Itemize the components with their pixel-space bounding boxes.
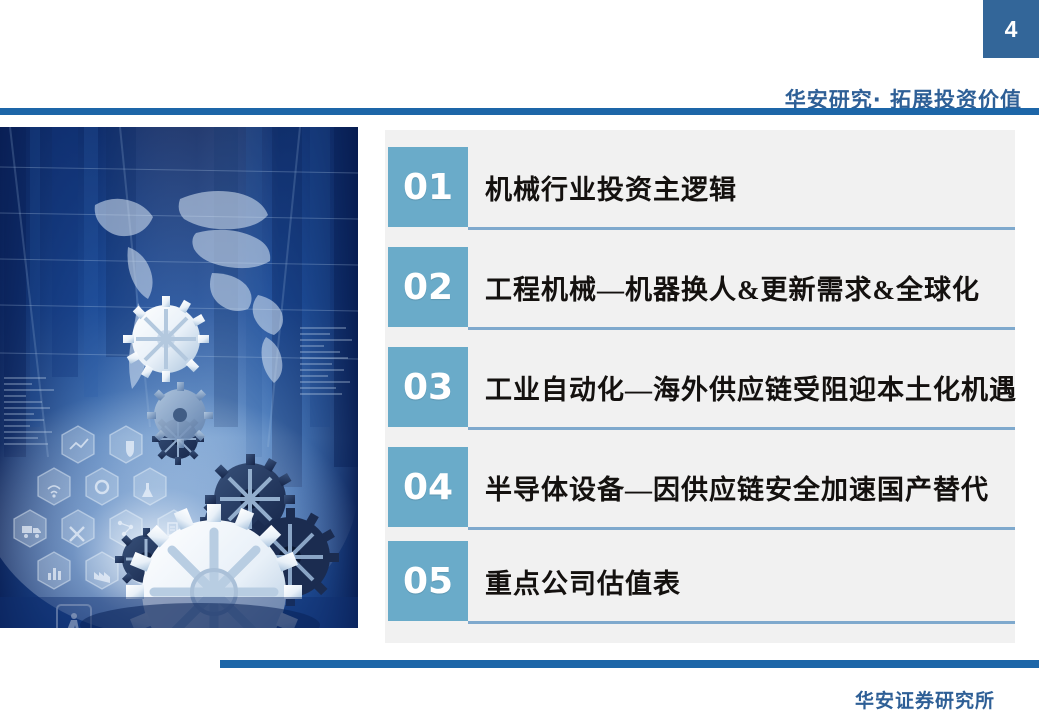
agenda-underline-04 xyxy=(468,527,1015,530)
agenda-underline-03 xyxy=(468,427,1015,430)
agenda-number-01: 01 xyxy=(388,147,468,227)
agenda-label-04: 半导体设备—因供应链安全加速国产替代 xyxy=(485,447,989,527)
agenda-label-02: 工程机械—机器换人&更新需求&全球化 xyxy=(485,247,980,327)
agenda-item-04[interactable]: 04 半导体设备—因供应链安全加速国产替代 xyxy=(385,447,1015,527)
agenda-label-05: 重点公司估值表 xyxy=(485,541,681,621)
agenda-number-05: 05 xyxy=(388,541,468,621)
page-number-badge: 4 xyxy=(983,0,1039,58)
agenda-item-05[interactable]: 05 重点公司估值表 xyxy=(385,541,1015,621)
agenda-number-02: 02 xyxy=(388,247,468,327)
agenda-underline-05 xyxy=(468,621,1015,624)
header-divider xyxy=(0,108,1039,115)
agenda-panel: 01 机械行业投资主逻辑 02 工程机械—机器换人&更新需求&全球化 03 工业… xyxy=(385,130,1015,643)
agenda-label-01: 机械行业投资主逻辑 xyxy=(485,147,737,227)
agenda-item-03[interactable]: 03 工业自动化—海外供应链受阻迎本土化机遇 xyxy=(385,347,1015,427)
hero-illustration xyxy=(0,127,358,628)
agenda-underline-02 xyxy=(468,327,1015,330)
slide-canvas: 4 华安研究· 拓展投资价值 xyxy=(0,0,1039,719)
footer-divider xyxy=(220,660,1039,668)
footer-title: 华安证券研究所 xyxy=(855,686,995,713)
agenda-underline-01 xyxy=(468,227,1015,230)
agenda-number-03: 03 xyxy=(388,347,468,427)
agenda-item-01[interactable]: 01 机械行业投资主逻辑 xyxy=(385,147,1015,227)
agenda-item-02[interactable]: 02 工程机械—机器换人&更新需求&全球化 xyxy=(385,247,1015,327)
agenda-label-03: 工业自动化—海外供应链受阻迎本土化机遇 xyxy=(485,347,1017,427)
agenda-number-04: 04 xyxy=(388,447,468,527)
